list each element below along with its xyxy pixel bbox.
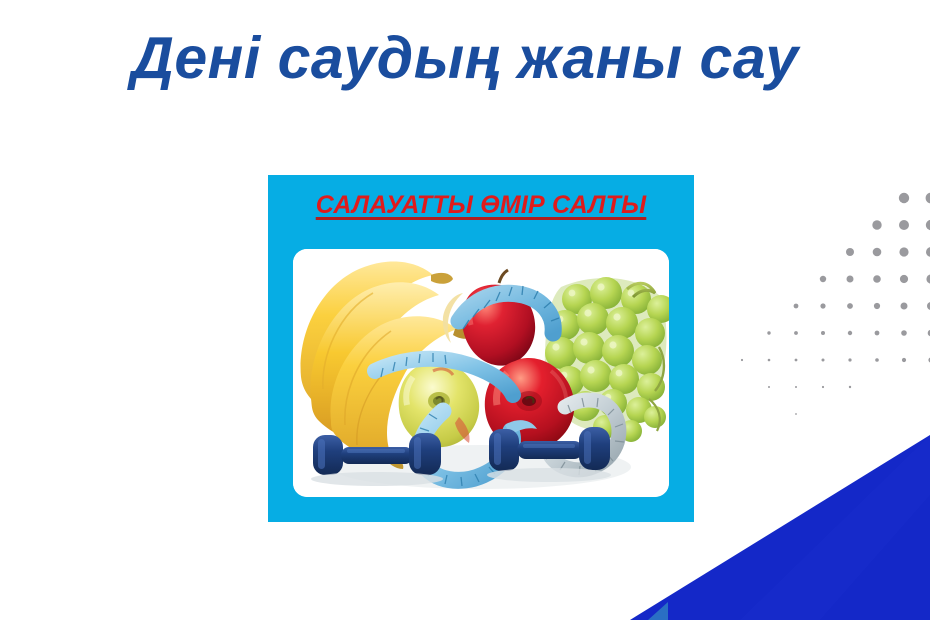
panel-caption: САЛАУАТТЫ ӨМІР САЛТЫ (268, 191, 694, 220)
slide-canvas: Дені саудың жаны сау (0, 0, 930, 620)
dot-pattern-decoration (735, 190, 930, 435)
blue-corner-decoration (630, 435, 930, 620)
healthy-lifestyle-photo (293, 249, 669, 497)
page-title: Дені саудың жаны сау (0, 28, 930, 88)
small-blue-triangle-decoration (648, 602, 668, 620)
